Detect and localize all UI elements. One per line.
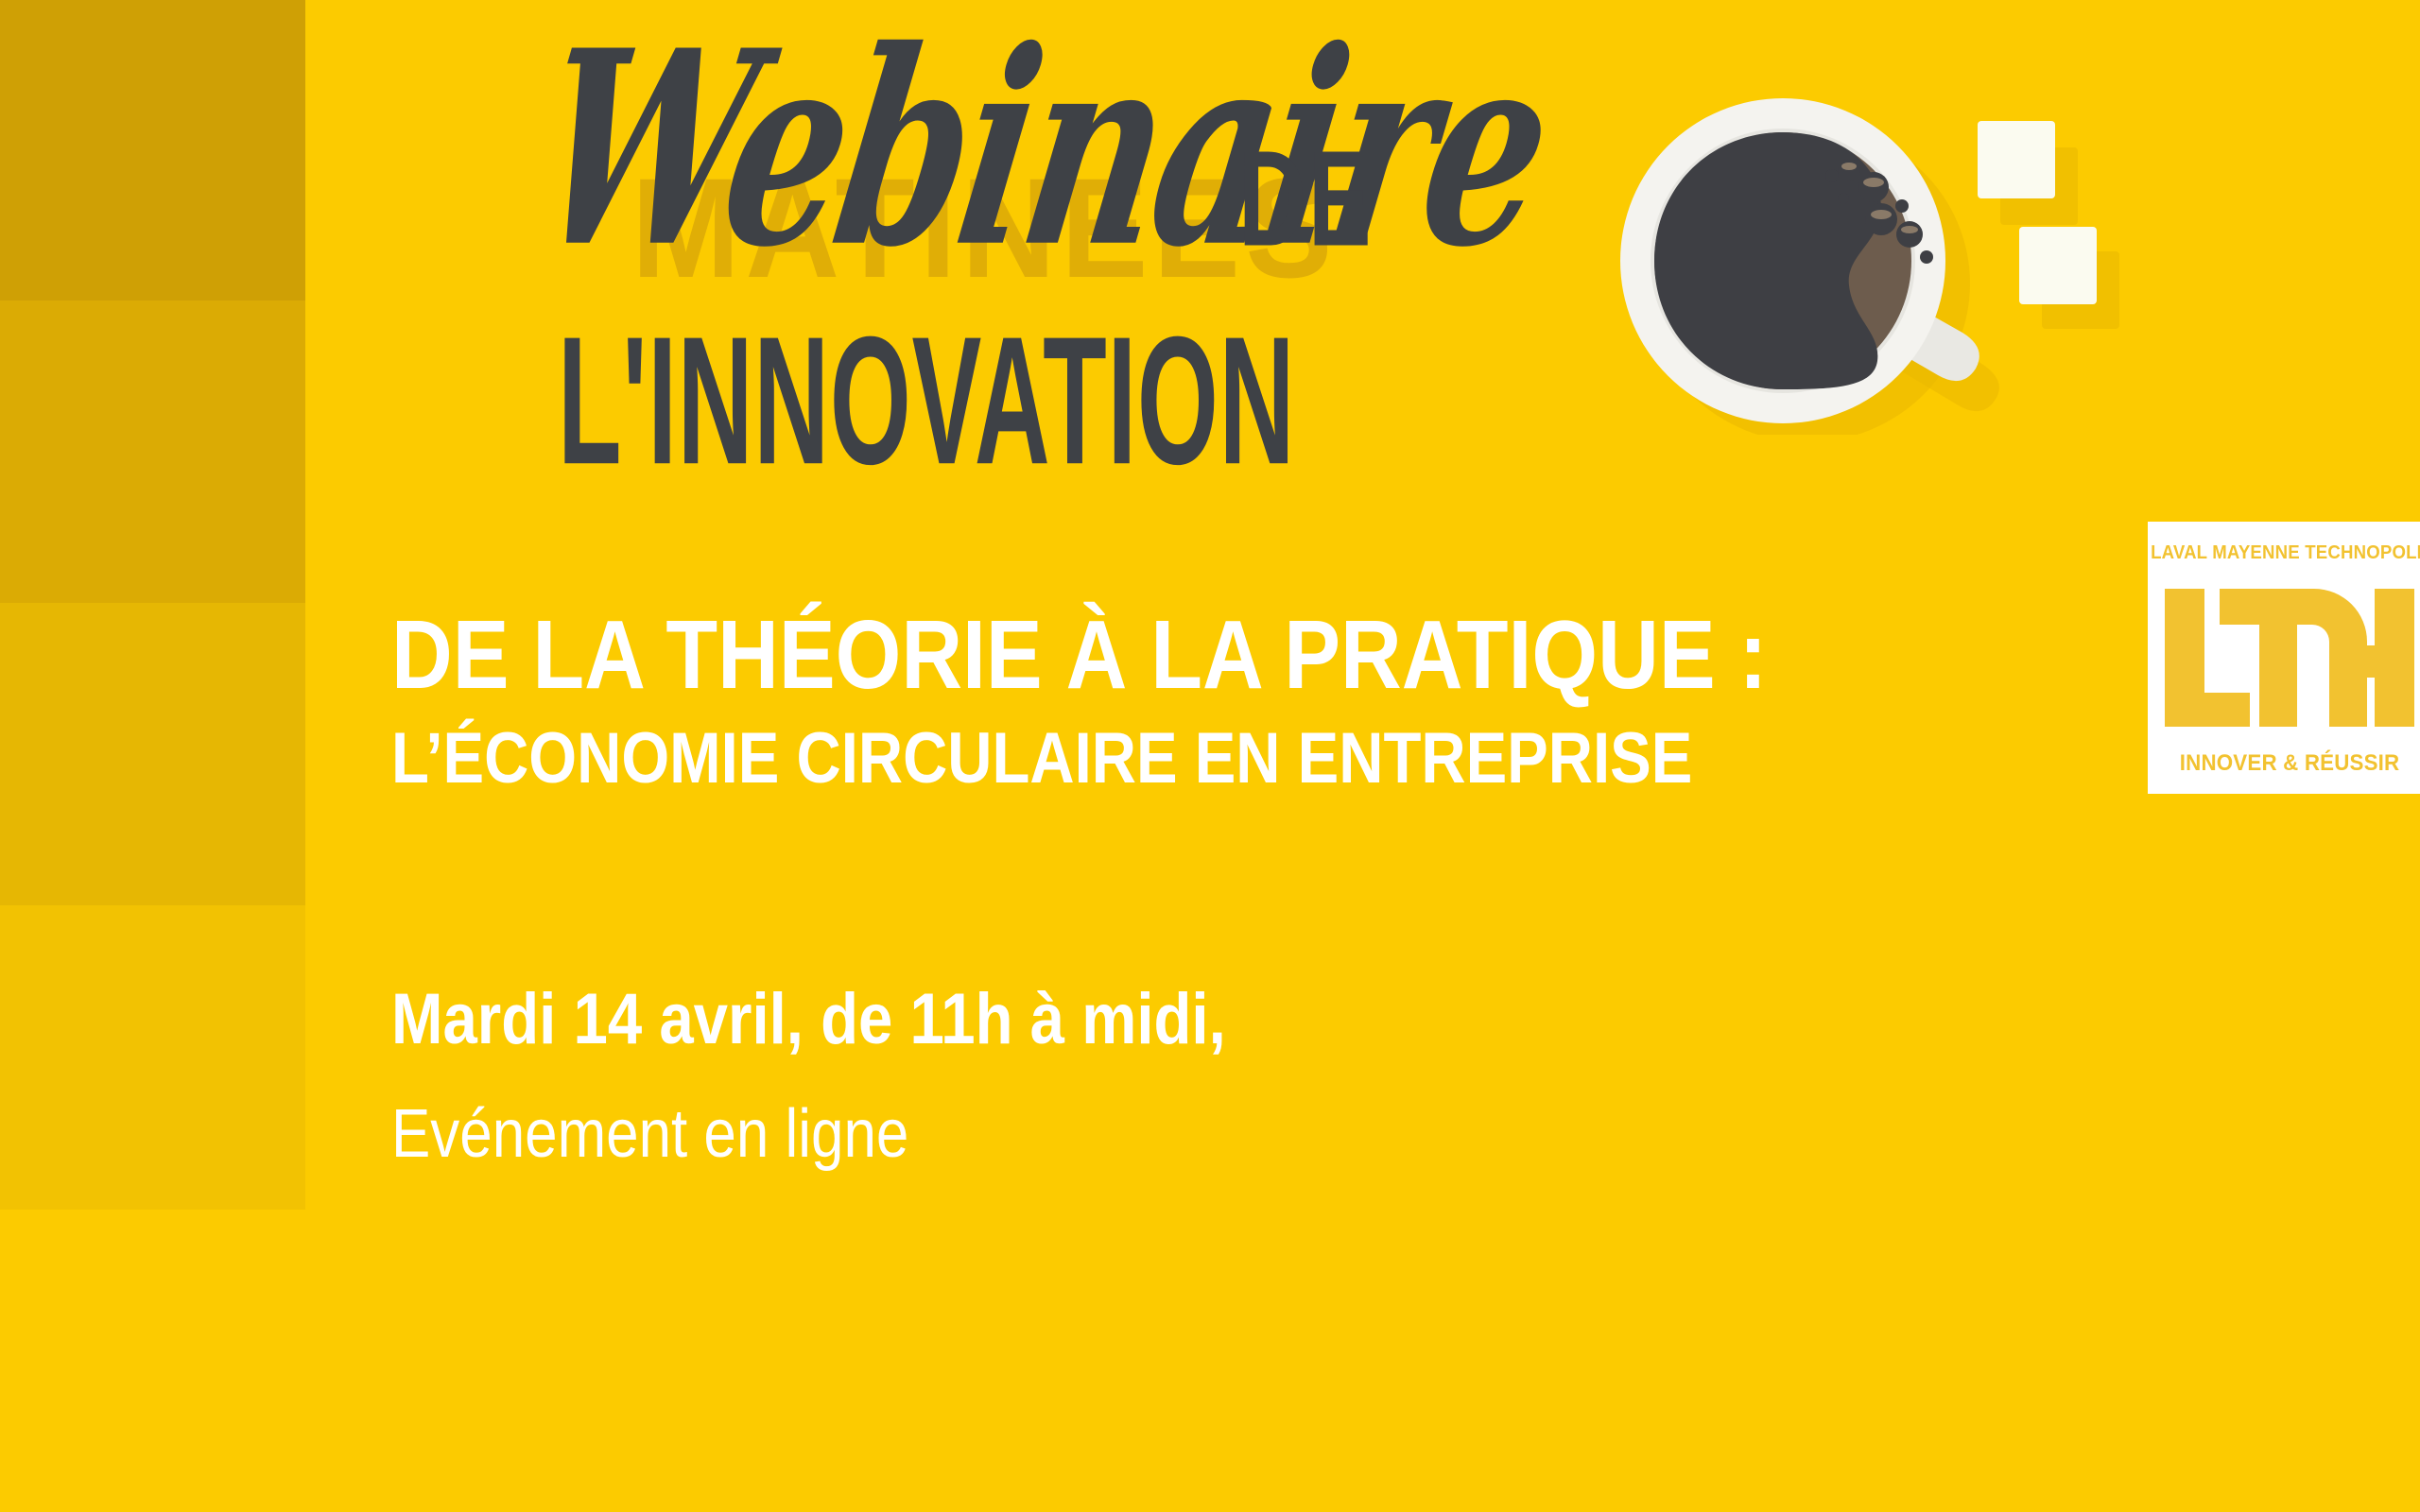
brand-connector-de: DE bbox=[1238, 130, 1373, 266]
event-subheadline: L’ÉCONOMIE CIRCULAIRE EN ENTREPRISE bbox=[391, 721, 1855, 797]
coffee-bubble-highlight bbox=[1901, 226, 1918, 233]
sugar-cube-2 bbox=[2019, 227, 2097, 304]
brand-subject-innovation: L'INNOVATION bbox=[558, 310, 1295, 492]
lmt-monogram-icon bbox=[2163, 587, 2416, 729]
brand-script-webinaire: Webinaire bbox=[523, 17, 1562, 284]
event-copy-block: DE LA THÉORIE À LA PRATIQUE : L’ÉCONOMIE… bbox=[391, 605, 2093, 1170]
coffee-bubble bbox=[1896, 221, 1923, 248]
event-poster: { "theme": { "background": "#fccb00", "i… bbox=[0, 0, 2420, 1512]
stripe-band-5 bbox=[0, 1210, 305, 1512]
brand-lockup: MATINEES Webinaire DE L'INNOVATION bbox=[539, 17, 1437, 490]
partner-logo-lmt[interactable]: LAVAL MAYENNE TECHNOPOLE INNOVER & RÉUSS… bbox=[2148, 522, 2420, 794]
coffee-bubble bbox=[1825, 169, 1839, 182]
lmt-logo-top-text: LAVAL MAYENNE TECHNOPOLE bbox=[2151, 542, 2420, 564]
lmt-logo-bottom-text: INNOVER & RÉUSSIR bbox=[2180, 750, 2400, 777]
coffee-bubble-highlight bbox=[1871, 210, 1892, 219]
stripe-band-4 bbox=[0, 905, 305, 1210]
coffee-cup-illustration bbox=[1598, 66, 2127, 435]
coffee-bubble bbox=[1895, 199, 1909, 213]
stripe-band-1 bbox=[0, 0, 305, 301]
stripe-band-2 bbox=[0, 301, 305, 603]
stripe-band-3 bbox=[0, 603, 305, 905]
event-headline: DE LA THÉORIE À LA PRATIQUE : bbox=[391, 605, 1872, 704]
coffee-bubble-highlight bbox=[1841, 163, 1857, 170]
sugar-cube-1 bbox=[1978, 121, 2055, 198]
left-accent-stripe bbox=[0, 0, 305, 1512]
coffee-bubble bbox=[1920, 250, 1933, 264]
event-location: Evénement en ligne bbox=[391, 1099, 1855, 1171]
coffee-bubble-highlight bbox=[1863, 178, 1884, 187]
coffee-bubble bbox=[1838, 193, 1849, 204]
event-date-time: Mardi 14 avril, de 11h à midi, bbox=[391, 982, 1855, 1057]
